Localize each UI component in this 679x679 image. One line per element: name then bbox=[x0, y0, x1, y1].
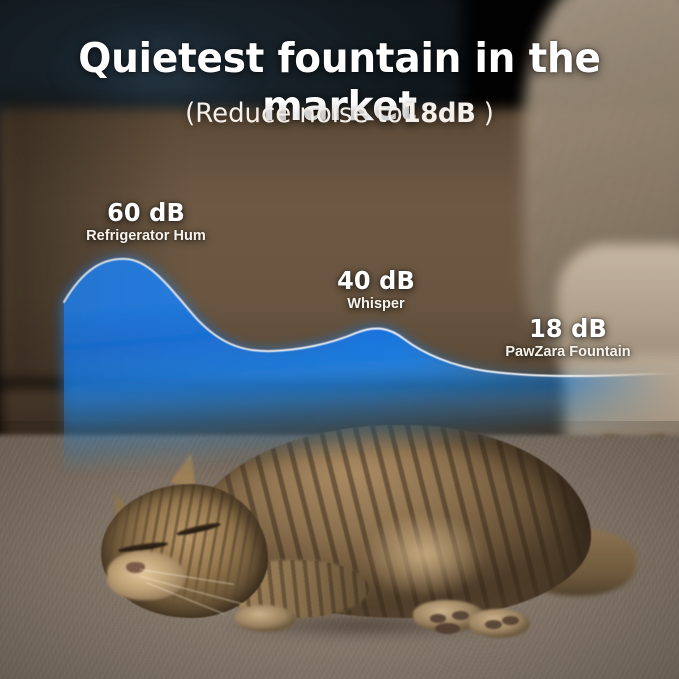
callout-pawzara-fountain: 18 dB PawZara Fountain bbox=[466, 316, 670, 361]
callout-label: Refrigerator Hum bbox=[51, 227, 241, 244]
subtitle: (Reduce noise to18dB ) bbox=[14, 98, 666, 129]
callout-whisper: 40 dB Whisper bbox=[288, 268, 464, 313]
callout-value: 18 dB bbox=[470, 316, 666, 342]
callout-value: 60 dB bbox=[52, 200, 240, 226]
callout-label: Whisper bbox=[291, 295, 462, 312]
subtitle-suffix: ) bbox=[475, 98, 493, 129]
subtitle-emphasis: 18dB bbox=[403, 98, 476, 129]
subtitle-prefix: (Reduce noise to bbox=[185, 98, 402, 129]
callout-refrigerator-hum: 60 dB Refrigerator Hum bbox=[48, 200, 244, 245]
promo-banner: Quietest fountain in the market (Reduce … bbox=[0, 0, 679, 679]
callout-value: 40 dB bbox=[292, 268, 461, 294]
callout-label: PawZara Fountain bbox=[469, 343, 667, 360]
